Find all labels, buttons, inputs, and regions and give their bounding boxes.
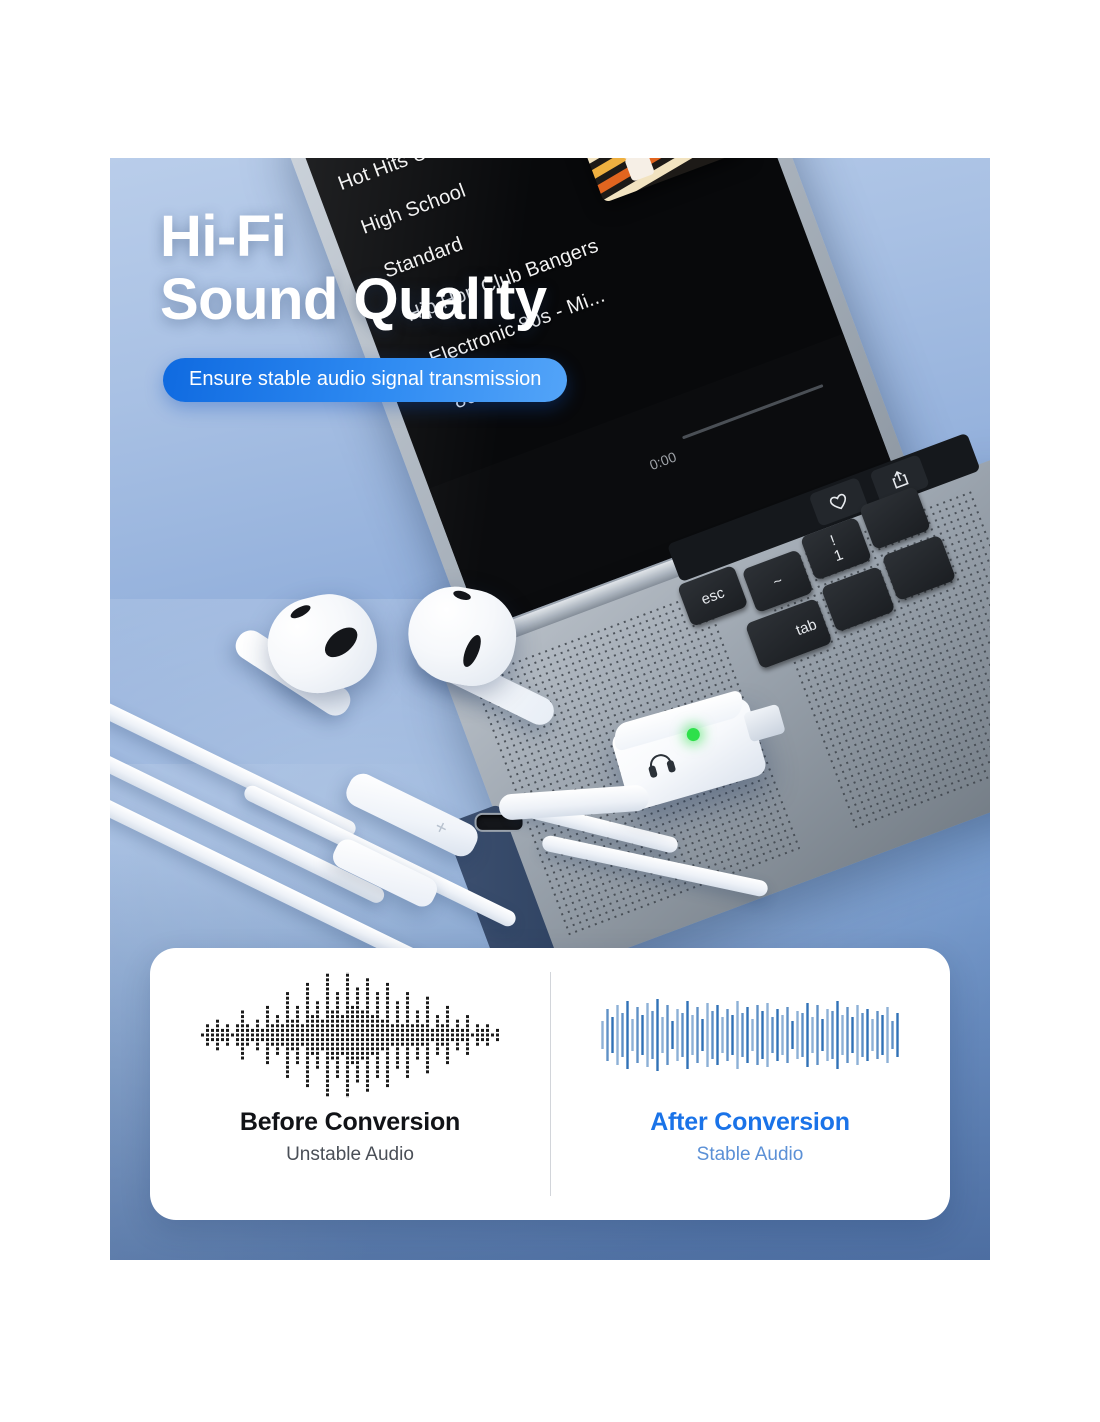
page-title: Hi-Fi Sound Quality [160, 206, 547, 331]
headphone-icon [645, 751, 676, 779]
headline-line-1: Hi-Fi [160, 206, 547, 269]
after-conversion-panel: After Conversion Stable Audio [550, 948, 950, 1220]
earbud-left [258, 584, 386, 703]
status-led-indicator [685, 727, 701, 743]
headphone-cup-left [648, 765, 658, 778]
before-subtitle: Unstable Audio [150, 1144, 550, 1166]
earbud-speaker-mesh [460, 633, 485, 669]
headphone-cup-right [666, 760, 676, 773]
tagline-badge: Ensure stable audio signal transmission [163, 358, 567, 402]
after-title: After Conversion [550, 1108, 950, 1137]
headline-line-2: Sound Quality [160, 269, 547, 332]
comparison-card: Before Conversion Unstable Audio After C… [150, 948, 950, 1220]
earbud-speaker-mesh [320, 622, 363, 663]
before-waveform-icon [200, 972, 500, 1098]
earbud-right [400, 579, 523, 692]
product-marketing-page: This I... Hot Hits UK High School Standa… [0, 0, 1100, 1422]
before-title: Before Conversion [150, 1108, 550, 1137]
after-subtitle: Stable Audio [550, 1144, 950, 1166]
after-waveform-container [550, 970, 950, 1100]
after-waveform-icon [600, 972, 900, 1098]
volume-up-icon[interactable]: + [431, 817, 450, 840]
earbud-vent [289, 603, 313, 621]
before-waveform-container [150, 970, 550, 1100]
earbud-vent [452, 589, 472, 602]
before-conversion-panel: Before Conversion Unstable Audio [150, 948, 550, 1220]
